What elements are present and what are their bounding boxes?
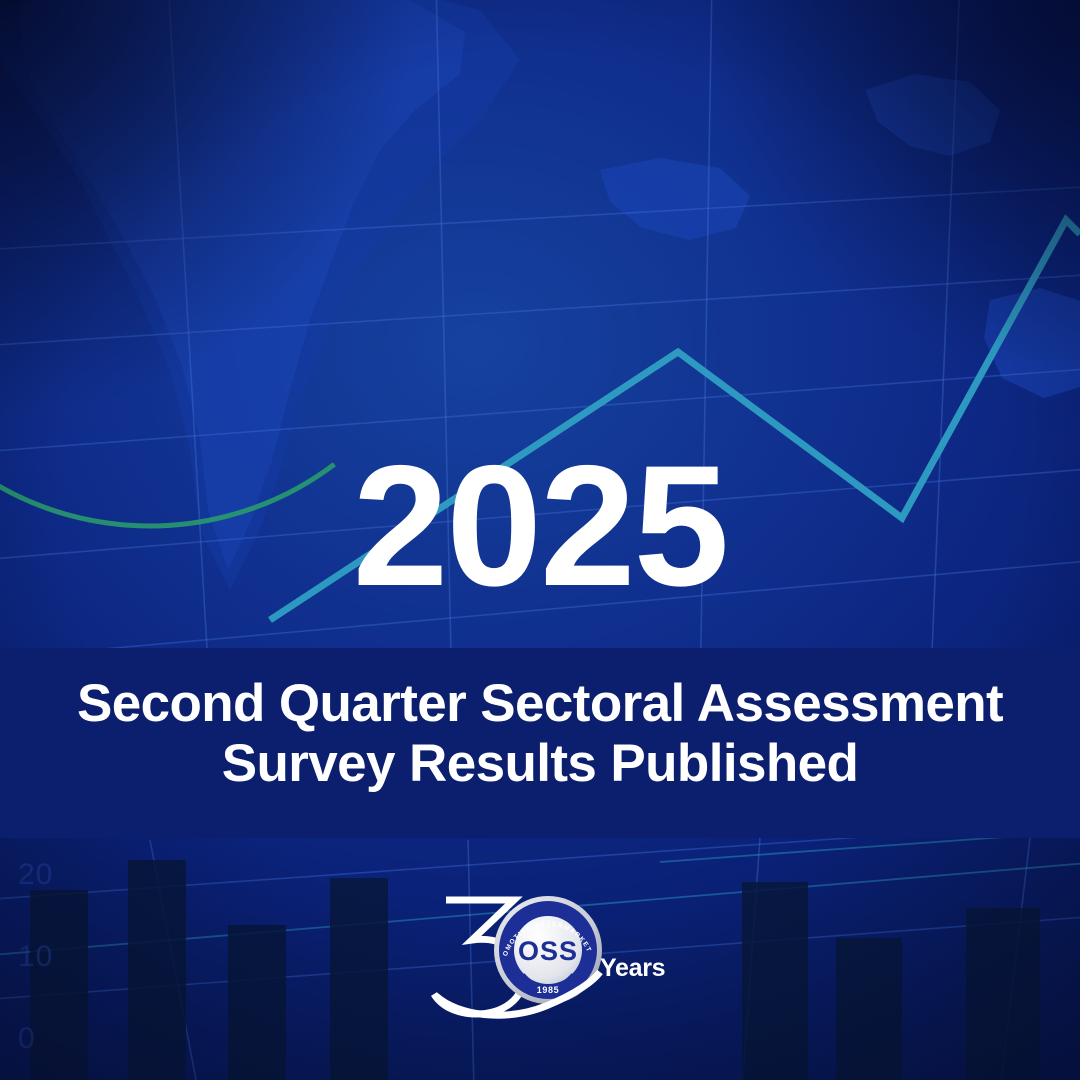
page-title-line-2: Survey Results Published: [40, 734, 1040, 794]
badge-acronym: OSS: [518, 936, 578, 966]
social-post-canvas: 20 10 0 2025 Second Quarter Sectoral Ass…: [0, 0, 1080, 1080]
years-label: Years: [600, 954, 665, 983]
page-title-line-1: Second Quarter Sectoral Assessment: [40, 674, 1040, 734]
title-banner: Second Quarter Sectoral Assessment Surve…: [0, 648, 1080, 838]
corner-shade-top-right: [700, 0, 1080, 360]
page-title: Second Quarter Sectoral Assessment Surve…: [40, 674, 1040, 794]
anniversary-logo: TURKISH AUTOMOTIVE AFTERMARKET ASSOCIATI…: [428, 880, 668, 1020]
year-heading: 2025: [0, 440, 1080, 612]
corner-shade-top-left: [0, 0, 420, 420]
anniversary-30-years-mark: TURKISH AUTOMOTIVE AFTERMARKET ASSOCIATI…: [428, 880, 668, 1020]
badge-founded-year: 1985: [537, 985, 559, 995]
